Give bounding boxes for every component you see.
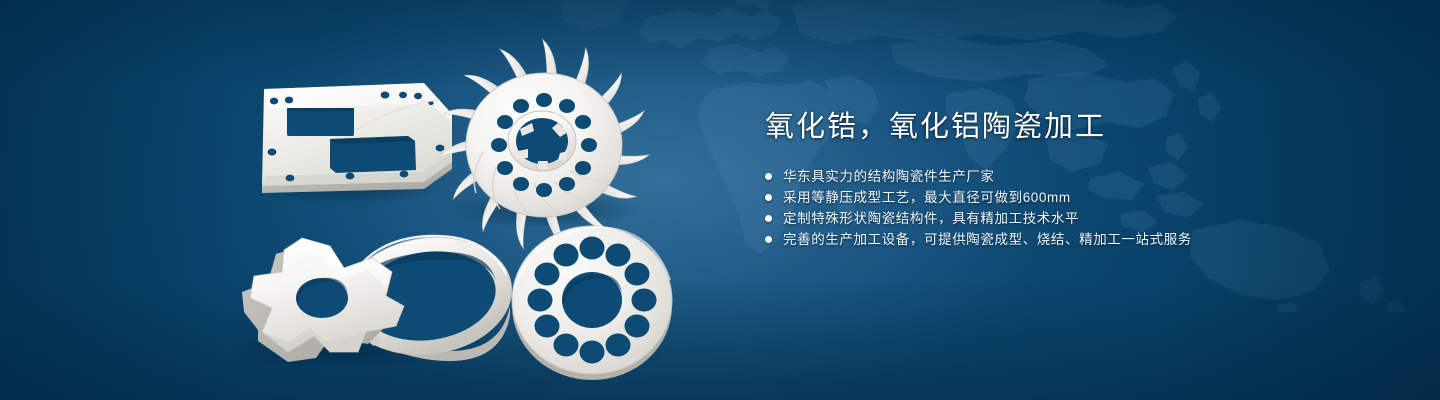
feature-text: 华东具实力的结构陶瓷件生产厂家 (783, 166, 995, 187)
bullet-dot-icon (765, 215, 772, 222)
list-item: 采用等静压成型工艺，最大直径可做到600mm (765, 187, 1385, 208)
list-item: 华东具实力的结构陶瓷件生产厂家 (765, 166, 1385, 187)
page-title: 氧化锆，氧化铝陶瓷加工 (765, 110, 1385, 144)
banner-copy: 氧化锆，氧化铝陶瓷加工 华东具实力的结构陶瓷件生产厂家 采用等静压成型工艺，最大… (765, 110, 1385, 250)
list-item: 完善的生产加工设备，可提供陶瓷成型、烧结、精加工一站式服务 (765, 229, 1385, 250)
list-item: 定制特殊形状陶瓷结构件，具有精加工技术水平 (765, 208, 1385, 229)
bullet-dot-icon (765, 236, 772, 243)
feature-text: 完善的生产加工设备，可提供陶瓷成型、烧结、精加工一站式服务 (783, 229, 1192, 250)
bullet-dot-icon (765, 173, 772, 180)
product-banner: 氧化锆，氧化铝陶瓷加工 华东具实力的结构陶瓷件生产厂家 采用等静压成型工艺，最大… (0, 0, 1440, 400)
feature-list: 华东具实力的结构陶瓷件生产厂家 采用等静压成型工艺，最大直径可做到600mm 定… (765, 166, 1385, 250)
feature-text: 定制特殊形状陶瓷结构件，具有精加工技术水平 (783, 208, 1079, 229)
feature-text: 采用等静压成型工艺，最大直径可做到600mm (783, 187, 1071, 208)
bullet-dot-icon (765, 194, 772, 201)
